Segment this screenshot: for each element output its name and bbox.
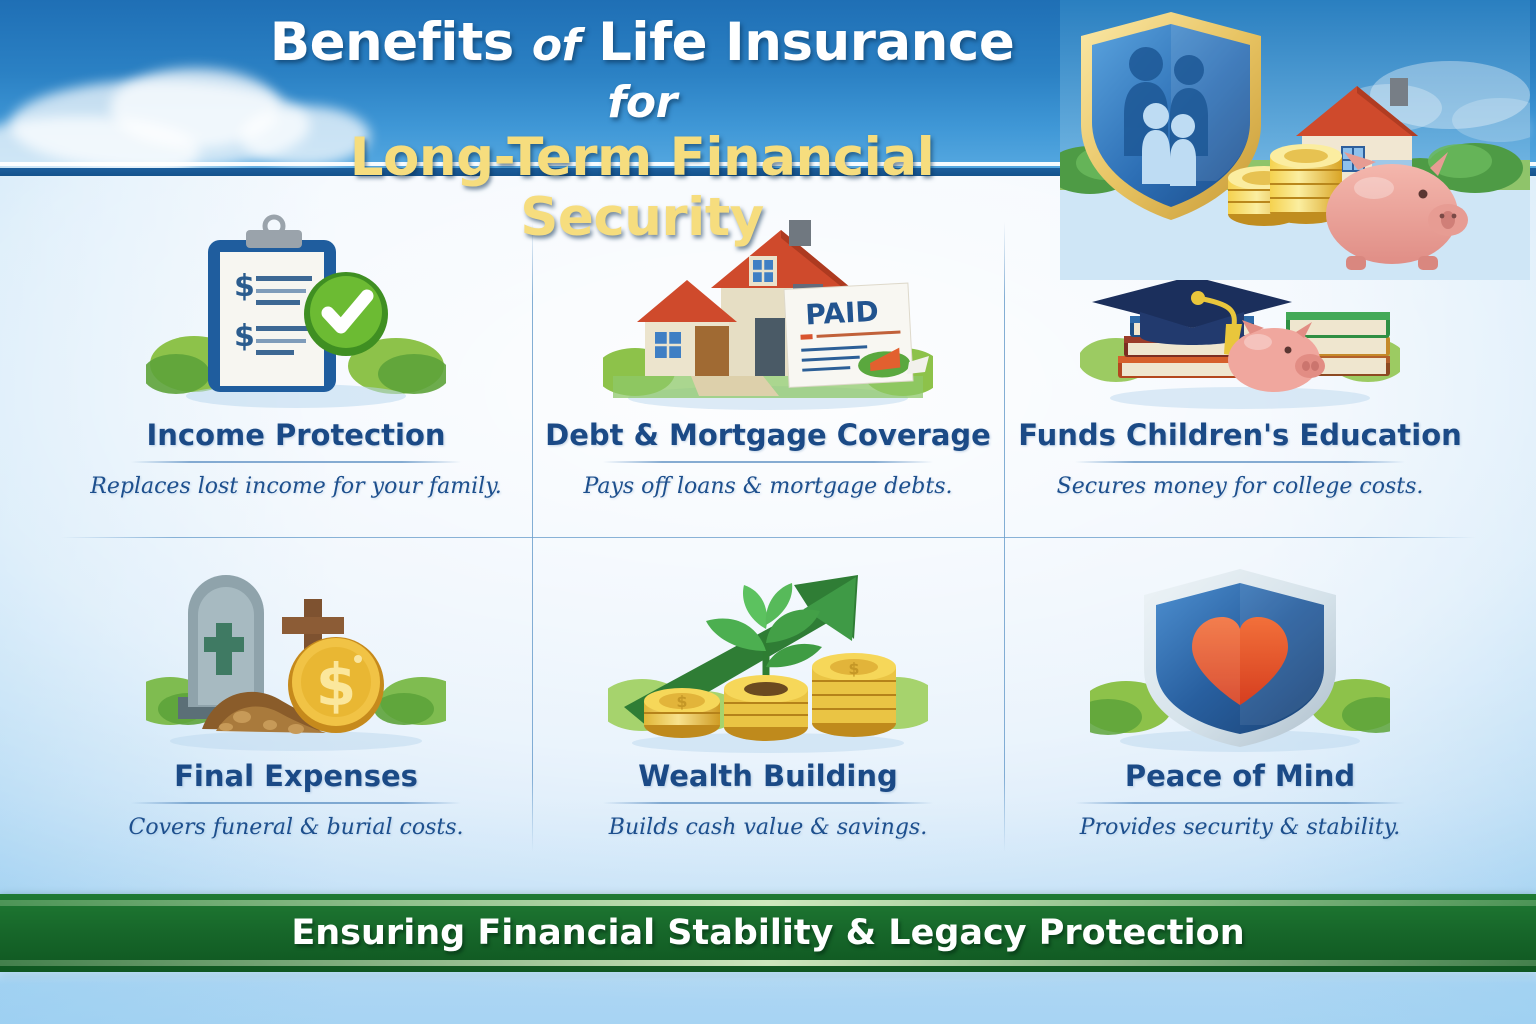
card-title: Income Protection: [146, 418, 445, 452]
shield-heart-icon: [1004, 537, 1476, 759]
card-subtitle: Pays off loans & mortgage debts.: [584, 474, 953, 499]
page-title: Benefits of Life Insurance for Long-Term…: [262, 14, 1022, 247]
title-word-benefits: Benefits: [270, 12, 514, 73]
title-word-life-insurance: Life Insurance: [598, 12, 1014, 73]
card-title: Debt & Mortgage Coverage: [545, 418, 991, 452]
hero-illustration: [1060, 0, 1530, 280]
benefit-card-peace-of-mind[interactable]: Peace of Mind Provides security & stabil…: [1004, 537, 1476, 878]
card-title-rule: [603, 461, 933, 463]
infographic-poster: Benefits of Life Insurance for Long-Term…: [0, 0, 1536, 1024]
title-word-for: for: [607, 77, 677, 128]
tombstone-cross-coin-icon: $: [60, 537, 532, 759]
title-word-of: of: [532, 20, 580, 71]
svg-text:$: $: [316, 651, 356, 719]
card-title-rule: [131, 802, 461, 804]
svg-text:$: $: [848, 659, 859, 678]
card-title-rule: [1075, 802, 1405, 804]
benefit-card-final-expenses[interactable]: $ Final Expenses Covers funeral & burial…: [60, 537, 532, 878]
svg-text:$: $: [234, 269, 255, 304]
card-title-rule: [131, 461, 461, 463]
card-subtitle: Covers funeral & burial costs.: [129, 815, 464, 840]
card-subtitle: Replaces lost income for your family.: [90, 474, 501, 499]
plant-coins-growth-arrow-icon: $ $: [532, 537, 1004, 759]
title-line-2: Long-Term Financial Security: [262, 128, 1022, 247]
card-title: Wealth Building: [638, 759, 897, 793]
svg-text:PAID: PAID: [805, 295, 880, 332]
svg-text:$: $: [234, 319, 255, 354]
card-subtitle: Builds cash value & savings.: [609, 815, 927, 840]
footer-glow: [0, 972, 1536, 984]
footer-banner: Ensuring Financial Stability & Legacy Pr…: [0, 894, 1536, 972]
card-title-rule: [603, 802, 933, 804]
card-title-rule: [1075, 461, 1405, 463]
card-subtitle: Secures money for college costs.: [1057, 474, 1424, 499]
title-line-1: Benefits of Life Insurance for: [262, 14, 1022, 128]
card-title: Funds Children's Education: [1018, 418, 1462, 452]
card-title: Peace of Mind: [1125, 759, 1355, 793]
card-subtitle: Provides security & stability.: [1080, 815, 1400, 840]
card-title: Final Expenses: [174, 759, 418, 793]
svg-text:$: $: [676, 692, 687, 711]
footer-text: Ensuring Financial Stability & Legacy Pr…: [291, 913, 1244, 953]
benefits-grid: $ $ Income Protection Replaces lost inco…: [60, 196, 1476, 878]
benefit-card-wealth-building[interactable]: $ $: [532, 537, 1004, 878]
